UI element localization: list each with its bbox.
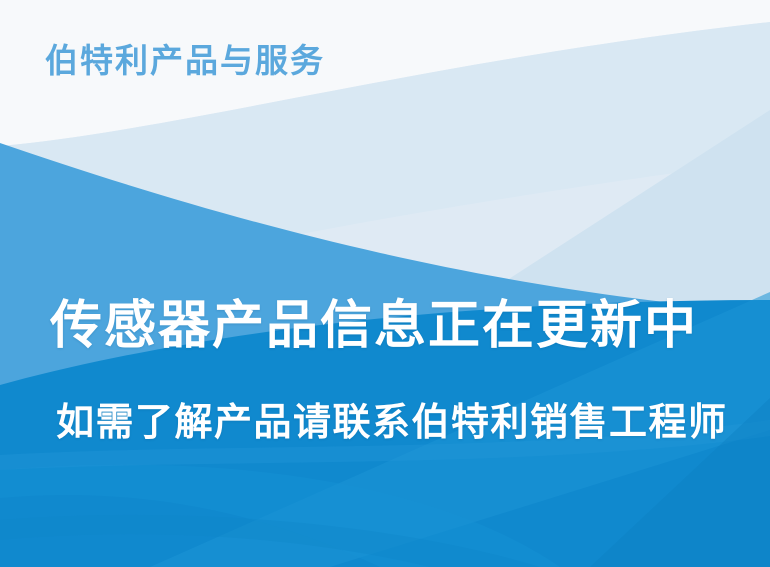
subheadline-text: 如需了解产品请联系伯特利销售工程师 — [56, 402, 728, 443]
brand-title: 伯特利产品与服务 — [45, 44, 325, 77]
product-service-banner: 伯特利产品与服务 传感器产品信息正在更新中 如需了解产品请联系伯特利销售工程师 — [0, 0, 770, 567]
banner-content: 伯特利产品与服务 传感器产品信息正在更新中 如需了解产品请联系伯特利销售工程师 — [0, 0, 770, 567]
headline-text: 传感器产品信息正在更新中 — [50, 298, 698, 354]
